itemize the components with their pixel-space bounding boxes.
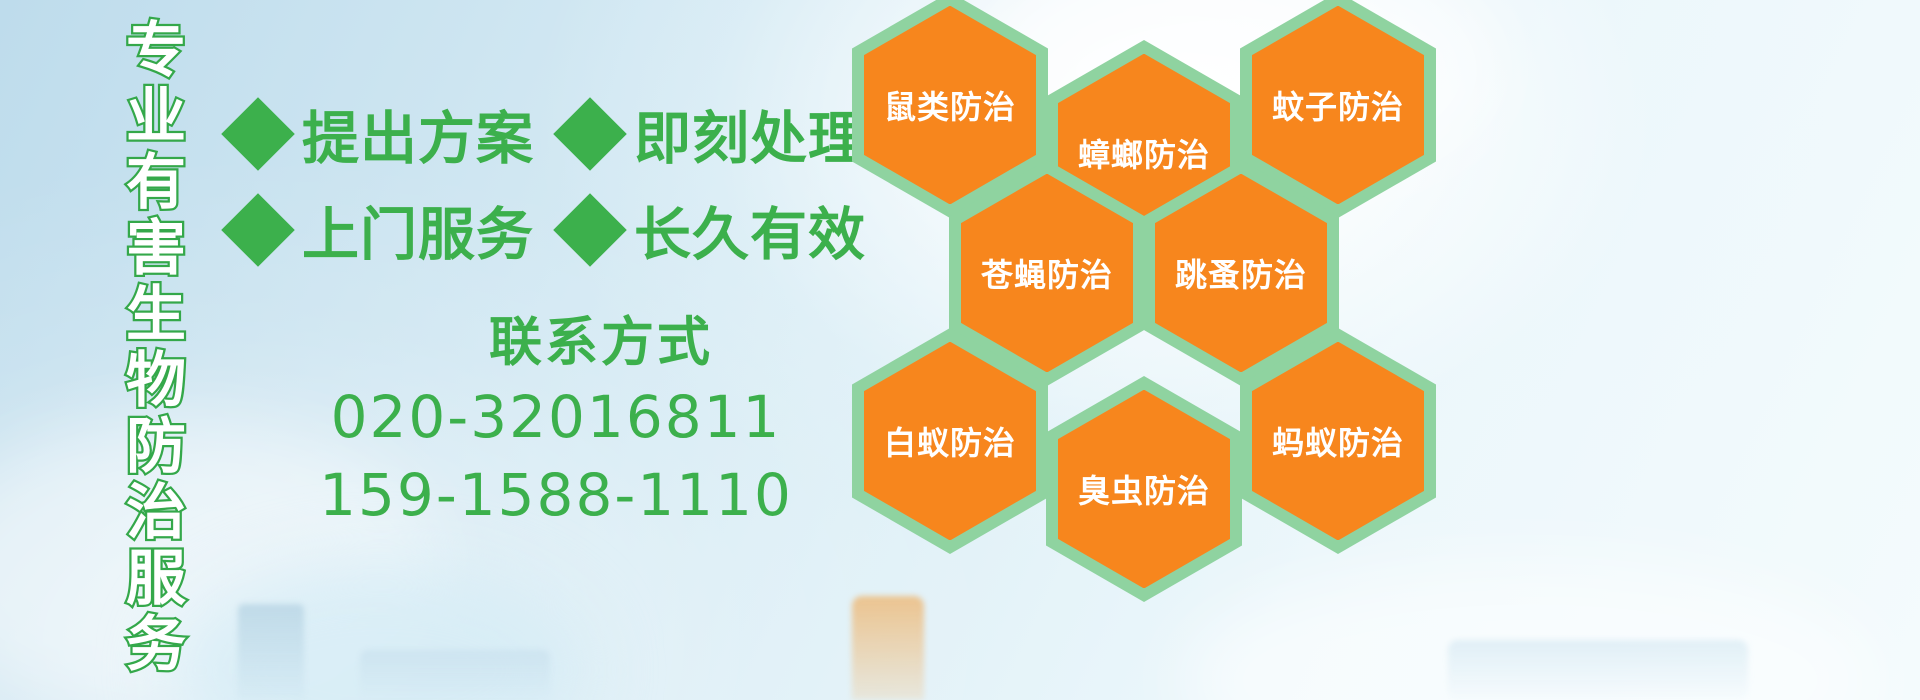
feature-item: 上门服务 — [232, 189, 534, 271]
background-object-4 — [1448, 640, 1748, 700]
vertical-slogan-char: 物 — [126, 348, 186, 414]
phone-number-landline[interactable]: 020-32016811 — [236, 378, 876, 456]
feature-row: 上门服务 长久有效 — [232, 182, 872, 278]
vertical-slogan-char: 务 — [126, 612, 186, 678]
diamond-bullet-icon — [221, 97, 295, 171]
hexagon-inner: 臭虫防治 — [1058, 390, 1230, 589]
diamond-bullet-icon — [221, 193, 295, 267]
vertical-slogan: 专 业 有 害 生 物 防 治 服 务 — [108, 18, 204, 682]
vertical-slogan-char: 害 — [126, 216, 186, 282]
hexagon-shape: 臭虫防治 — [1046, 376, 1242, 602]
service-label: 跳蚤防治 — [1175, 250, 1307, 296]
vertical-slogan-char: 治 — [126, 480, 186, 546]
hexagon-inner: 蚂蚁防治 — [1252, 342, 1424, 541]
contact-title: 联系方式 — [326, 308, 876, 378]
feature-item: 即刻处理 — [564, 93, 866, 175]
service-hex-ant[interactable]: 蚂蚁防治 — [1240, 328, 1436, 554]
background-object-1 — [238, 604, 304, 700]
service-label: 蚂蚁防治 — [1272, 418, 1404, 464]
feature-label: 上门服务 — [302, 189, 534, 271]
service-hex-termite[interactable]: 白蚁防治 — [852, 328, 1048, 554]
feature-item: 长久有效 — [564, 189, 866, 271]
hexagon-shape: 蚂蚁防治 — [1240, 328, 1436, 554]
hexagon-shape: 白蚁防治 — [852, 328, 1048, 554]
vertical-slogan-char: 生 — [126, 282, 186, 348]
background-glow-lower-left — [170, 560, 590, 700]
vertical-slogan-char: 防 — [126, 414, 186, 480]
background-object-2 — [360, 650, 550, 700]
service-hex-bedbug[interactable]: 臭虫防治 — [1046, 376, 1242, 602]
diamond-bullet-icon — [553, 193, 627, 267]
promo-banner: 专 业 有 害 生 物 防 治 服 务 提出方案 即刻处理 上门服务 — [0, 0, 1920, 700]
service-label: 臭虫防治 — [1078, 466, 1210, 512]
feature-list: 提出方案 即刻处理 上门服务 长久有效 — [232, 86, 872, 278]
service-honeycomb: 鼠类防治 蟑螂防治 蚊子防治 苍蝇防治 — [852, 0, 1472, 700]
feature-item: 提出方案 — [232, 93, 534, 175]
vertical-slogan-char: 服 — [126, 546, 186, 612]
feature-row: 提出方案 即刻处理 — [232, 86, 872, 182]
feature-label: 长久有效 — [634, 189, 866, 271]
service-label: 鼠类防治 — [884, 82, 1016, 128]
vertical-slogan-char: 专 — [126, 18, 186, 84]
feature-label: 提出方案 — [302, 93, 534, 175]
phone-number-mobile[interactable]: 159-1588-1110 — [236, 456, 876, 534]
service-label: 苍蝇防治 — [981, 250, 1113, 296]
service-label: 白蚁防治 — [884, 418, 1016, 464]
service-label: 蚊子防治 — [1272, 82, 1404, 128]
contact-block: 联系方式 020-32016811 159-1588-1110 — [236, 308, 876, 534]
hexagon-inner: 白蚁防治 — [864, 342, 1036, 541]
diamond-bullet-icon — [553, 97, 627, 171]
vertical-slogan-char: 业 — [126, 84, 186, 150]
feature-label: 即刻处理 — [634, 93, 866, 175]
vertical-slogan-char: 有 — [126, 150, 186, 216]
